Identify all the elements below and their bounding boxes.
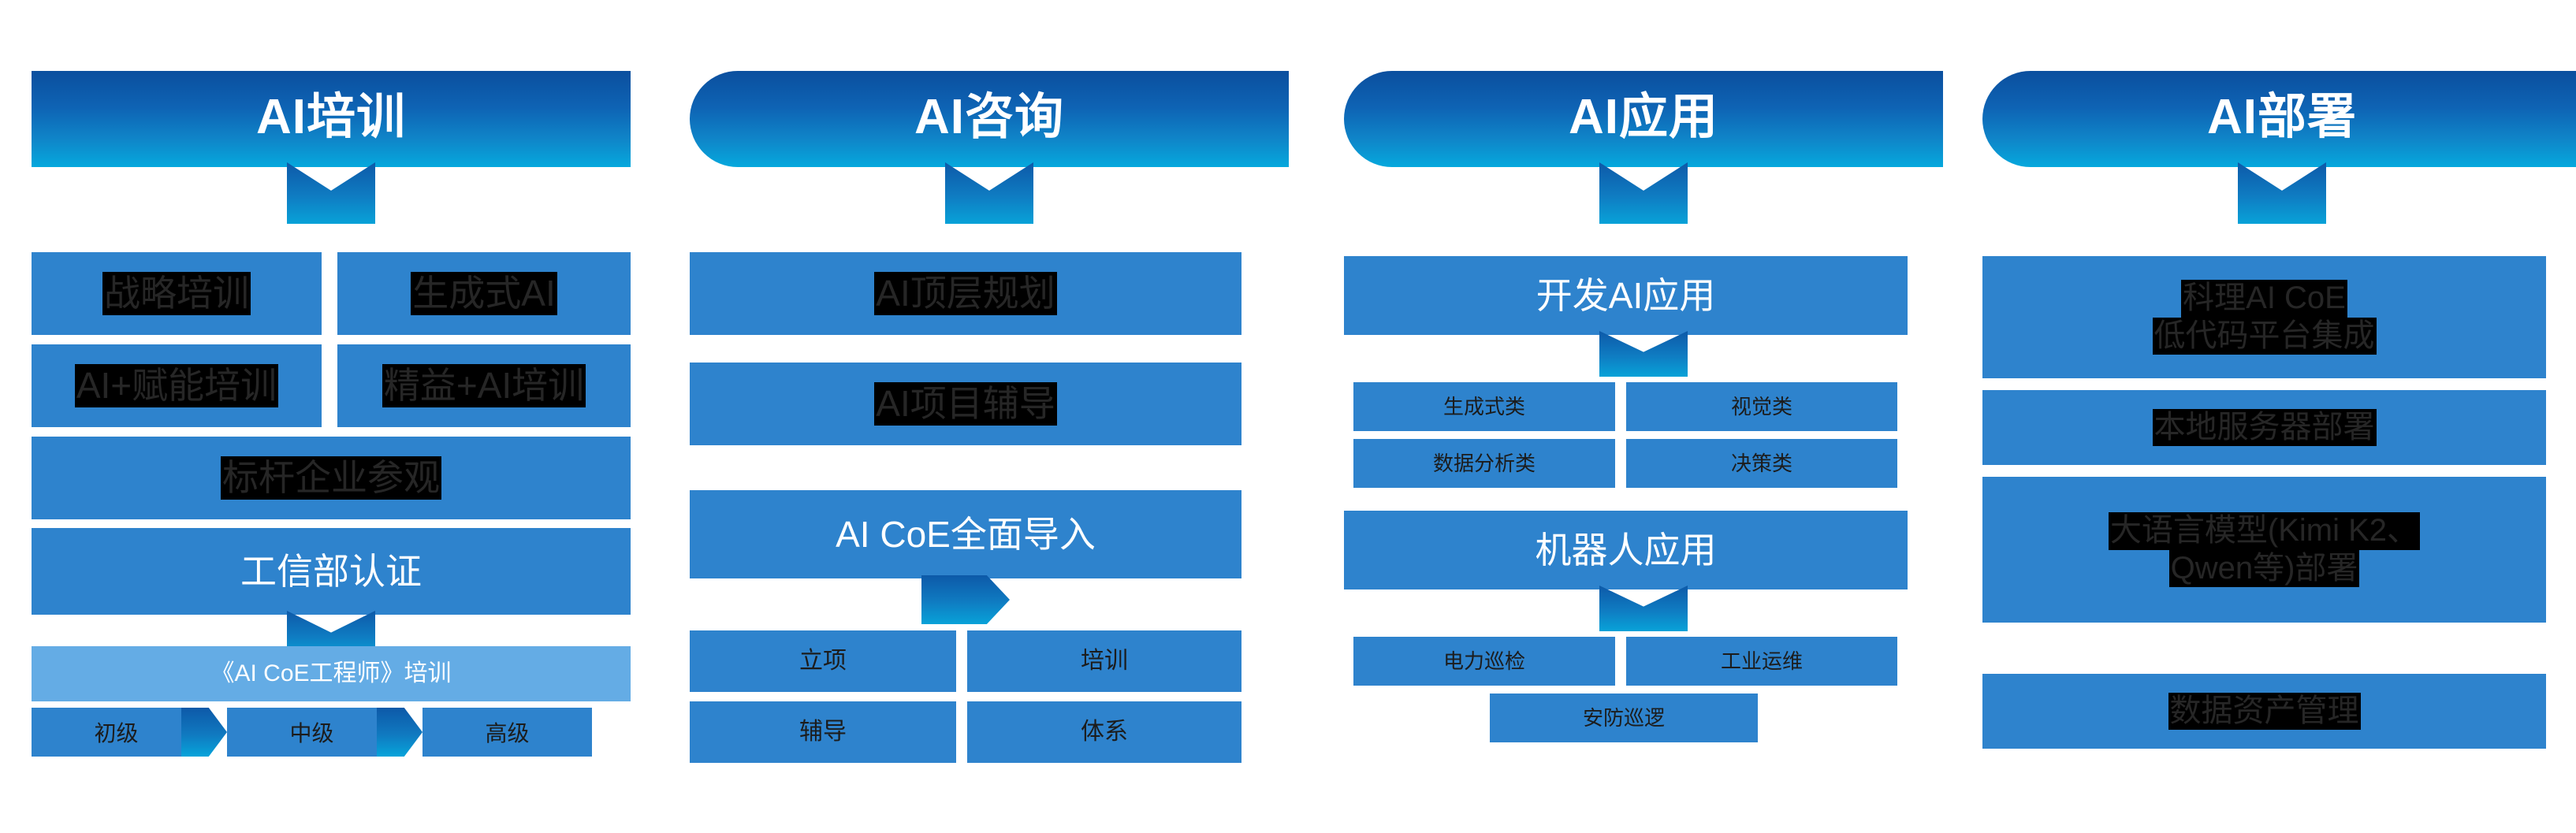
box-llm-deployment[interactable]: 大语言模型(Kimi K2、 Qwen等)部署 (1982, 477, 2546, 623)
header-banner-ai-deployment[interactable]: AI部署 (1982, 71, 2576, 167)
down-chevron-connector (1599, 586, 1688, 631)
box-ai-enablement-training[interactable]: AI+赋能培训 (32, 344, 322, 427)
box-keli-ai-coe-lowcode-platform[interactable]: 科理AI CoE 低代码平台集成 (1982, 256, 2546, 378)
banner-title: AI培训 (32, 71, 631, 167)
box-label: 决策类 (1731, 452, 1792, 476)
box-label: 工业运维 (1721, 649, 1803, 674)
step-label: 高级 (485, 716, 529, 748)
step-arrow-2-icon (377, 708, 423, 757)
box-label: AI项目辅导 (874, 382, 1056, 425)
box-label: 工信部认证 (240, 550, 422, 593)
down-chevron-connector (1599, 331, 1688, 377)
banner-title: AI咨询 (690, 71, 1289, 167)
box-label: 生成式类 (1443, 395, 1525, 419)
box-training[interactable]: 培训 (967, 630, 1241, 692)
box-miit-certification[interactable]: 工信部认证 (32, 528, 631, 615)
box-develop-ai-applications[interactable]: 开发AI应用 (1344, 256, 1908, 335)
box-label: 体系 (1081, 718, 1128, 746)
box-benchmark-enterprise-visit[interactable]: 标杆企业参观 (32, 437, 631, 519)
step-arrow-1-icon (181, 708, 227, 757)
box-label-line-2: 低代码平台集成 (2153, 318, 2377, 355)
box-label-line-1: 大语言模型(Kimi K2、 (2109, 512, 2420, 549)
column-ai-training: AI培训 战略培训 生成式AI AI+赋能培训 精益+AI培训 标杆企业参观 工… (32, 0, 631, 833)
column-ai-application: AI应用 开发AI应用 生成式类 视觉类 数据分析类 决策类 机器人应用 电力巡… (1344, 0, 1943, 833)
box-ai-coe-engineer-training[interactable]: 《AI CoE工程师》培训 (32, 646, 631, 701)
box-label: 辅导 (799, 718, 847, 746)
box-ai-top-level-planning[interactable]: AI顶层规划 (690, 252, 1241, 335)
column-ai-consulting: AI咨询 AI顶层规划 AI项目辅导 AI CoE全面导入 立项 培训 辅导 体… (690, 0, 1289, 833)
box-lean-ai-training[interactable]: 精益+AI培训 (337, 344, 631, 427)
box-label: 战略培训 (102, 272, 251, 314)
box-strategy-training[interactable]: 战略培训 (32, 252, 322, 335)
box-label: 生成式AI (411, 272, 557, 314)
box-label-line-2: Qwen等)部署 (2169, 550, 2360, 587)
down-chevron-connector (2238, 162, 2326, 224)
box-project-initiation[interactable]: 立项 (690, 630, 956, 692)
box-ai-coe-full-rollout[interactable]: AI CoE全面导入 (690, 490, 1241, 578)
box-label: 《AI CoE工程师》培训 (210, 660, 451, 687)
step-advanced[interactable]: 高级 (423, 708, 592, 757)
box-vision-category[interactable]: 视觉类 (1626, 382, 1897, 431)
box-coaching[interactable]: 辅导 (690, 701, 956, 763)
box-label: 视觉类 (1731, 395, 1792, 419)
box-generative-category[interactable]: 生成式类 (1353, 382, 1615, 431)
box-label: AI顶层规划 (874, 272, 1056, 314)
box-label: 机器人应用 (1536, 529, 1717, 571)
box-security-patrol[interactable]: 安防巡逻 (1490, 694, 1758, 742)
box-label: 精益+AI培训 (382, 364, 586, 407)
step-intermediate[interactable]: 中级 (227, 708, 396, 757)
header-banner-ai-training[interactable]: AI培训 (32, 71, 631, 167)
box-robotics-applications[interactable]: 机器人应用 (1344, 511, 1908, 589)
box-data-asset-management[interactable]: 数据资产管理 (1982, 674, 2546, 749)
header-banner-ai-consulting[interactable]: AI咨询 (690, 71, 1289, 167)
down-chevron-connector (1599, 162, 1688, 224)
box-label: 数据分析类 (1433, 452, 1536, 476)
step-label: 初级 (94, 716, 138, 748)
box-decision-category[interactable]: 决策类 (1626, 439, 1897, 488)
box-label: 电力巡检 (1443, 649, 1525, 674)
box-label: 立项 (799, 647, 847, 675)
box-industrial-operations[interactable]: 工业运维 (1626, 637, 1897, 686)
step-junior[interactable]: 初级 (32, 708, 201, 757)
down-chevron-connector (287, 162, 375, 224)
box-ai-project-coaching[interactable]: AI项目辅导 (690, 363, 1241, 445)
box-label: 数据资产管理 (2168, 693, 2361, 730)
header-banner-ai-application[interactable]: AI应用 (1344, 71, 1943, 167)
column-ai-deployment: AI部署 科理AI CoE 低代码平台集成 本地服务器部署 大语言模型(Kimi… (1982, 0, 2576, 833)
box-label: 培训 (1081, 647, 1128, 675)
box-local-server-deployment[interactable]: 本地服务器部署 (1982, 390, 2546, 465)
box-label: AI+赋能培训 (75, 364, 278, 407)
step-label: 中级 (289, 716, 333, 748)
diagram-canvas: AI培训 战略培训 生成式AI AI+赋能培训 精益+AI培训 标杆企业参观 工… (0, 0, 2576, 833)
box-label-line-1: 科理AI CoE (2181, 280, 2347, 317)
box-data-analysis-category[interactable]: 数据分析类 (1353, 439, 1615, 488)
right-chevron-connector (921, 575, 1010, 624)
box-label: AI CoE全面导入 (836, 513, 1096, 556)
box-power-inspection[interactable]: 电力巡检 (1353, 637, 1615, 686)
box-label: 本地服务器部署 (2153, 409, 2377, 446)
banner-title: AI应用 (1344, 71, 1943, 167)
box-label: 标杆企业参观 (221, 456, 441, 499)
box-label: 安防巡逻 (1583, 706, 1665, 731)
box-label: 开发AI应用 (1536, 274, 1715, 317)
box-system[interactable]: 体系 (967, 701, 1241, 763)
box-generative-ai[interactable]: 生成式AI (337, 252, 631, 335)
banner-title: AI部署 (1982, 71, 2576, 167)
down-chevron-connector (945, 162, 1033, 224)
